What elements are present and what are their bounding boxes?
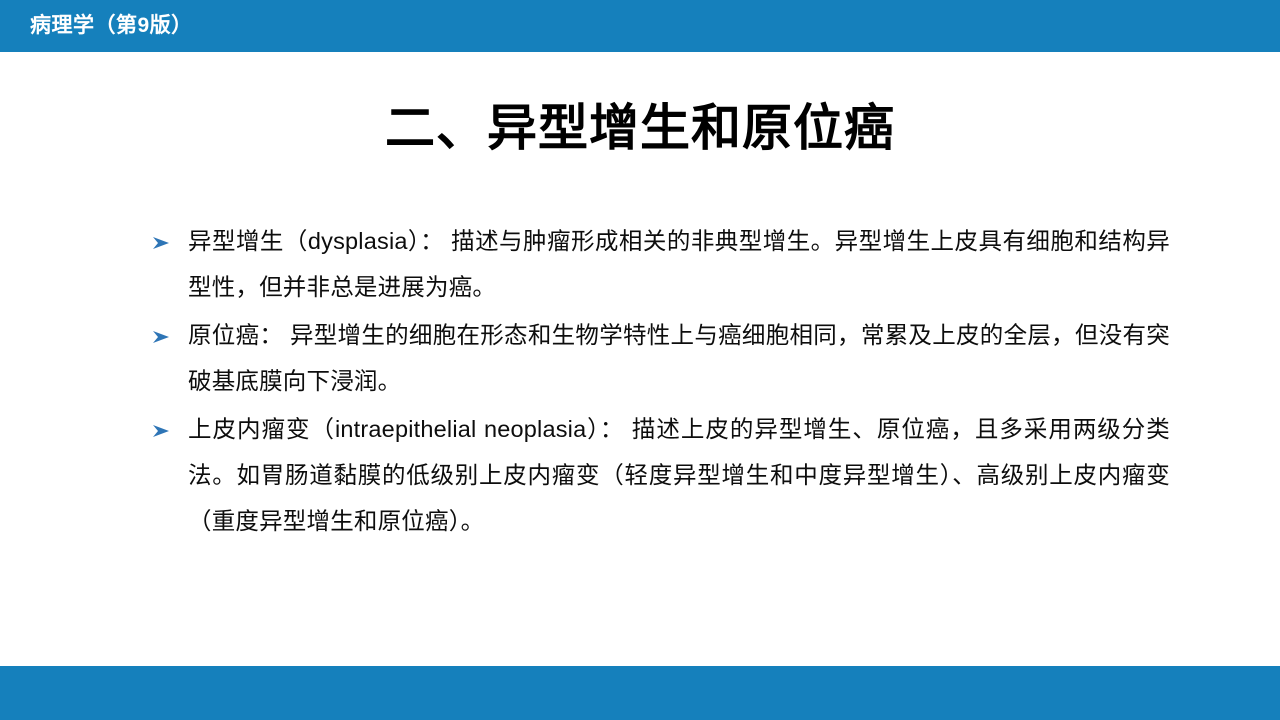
list-item: 上皮内瘤变（intraepithelial neoplasia）： 描述上皮的异… — [150, 406, 1170, 544]
arrow-bullet-icon — [150, 406, 188, 438]
header-bar: 病理学（第9版） — [0, 0, 1280, 52]
list-item: 异型增生（dysplasia）： 描述与肿瘤形成相关的非典型增生。异型增生上皮具… — [150, 218, 1170, 310]
footer-bar — [0, 666, 1280, 720]
list-item-text: 上皮内瘤变（intraepithelial neoplasia）： 描述上皮的异… — [188, 406, 1170, 544]
arrow-bullet-icon — [150, 312, 188, 344]
arrow-bullet-icon — [150, 218, 188, 250]
list-item-text: 原位癌： 异型增生的细胞在形态和生物学特性上与癌细胞相同，常累及上皮的全层，但没… — [188, 312, 1170, 404]
bullet-list: 异型增生（dysplasia）： 描述与肿瘤形成相关的非典型增生。异型增生上皮具… — [150, 218, 1170, 546]
list-item-text: 异型增生（dysplasia）： 描述与肿瘤形成相关的非典型增生。异型增生上皮具… — [188, 218, 1170, 310]
page-title: 二、异型增生和原位癌 — [0, 88, 1280, 160]
book-title: 病理学（第9版） — [30, 0, 193, 52]
list-item: 原位癌： 异型增生的细胞在形态和生物学特性上与癌细胞相同，常累及上皮的全层，但没… — [150, 312, 1170, 404]
slide-root: 病理学（第9版） 二、异型增生和原位癌 异型增生（dysplasia）： 描述与… — [0, 0, 1280, 720]
